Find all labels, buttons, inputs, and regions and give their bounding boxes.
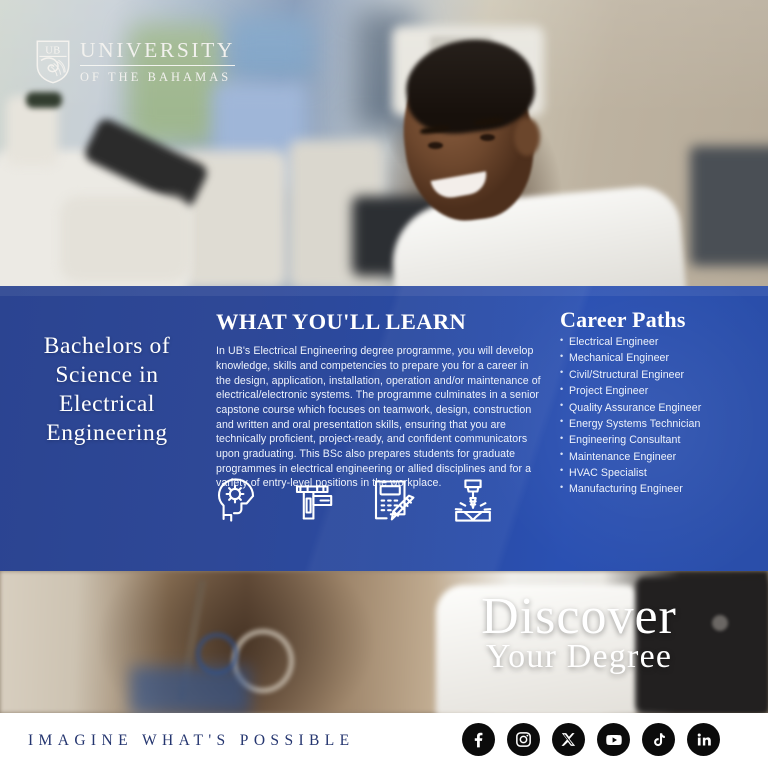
degree-title-line-2: Science in — [4, 361, 210, 390]
what-youll-learn-body: In UB's Electrical Engineering degree pr… — [216, 344, 546, 491]
caliper-icon — [290, 474, 344, 528]
ub-shield-icon: UB — [36, 40, 70, 84]
facebook-icon[interactable] — [462, 723, 495, 756]
list-item: Electrical Engineer — [560, 334, 760, 350]
degree-title-line-3: Electrical — [4, 390, 210, 419]
discover-your-degree-cta[interactable]: Discover Your Degree — [430, 592, 728, 675]
footer-tagline: IMAGINE WHAT'S POSSIBLE — [28, 732, 355, 750]
feature-icon-row — [212, 474, 500, 528]
degree-title-line-1: Bachelors of — [4, 332, 210, 361]
list-item: Maintenance Engineer — [560, 449, 760, 465]
list-item: Civil/Structural Engineer — [560, 367, 760, 383]
linkedin-icon[interactable] — [687, 723, 720, 756]
social-links — [462, 723, 720, 756]
ub-logo-wordmark: UNIVERSITY OF THE BAHAMAS — [80, 40, 235, 85]
x-twitter-icon[interactable] — [552, 723, 585, 756]
ub-logo[interactable]: UB UNIVERSITY OF THE BAHAMAS — [36, 40, 235, 85]
career-paths-section: Career Paths Electrical Engineer Mechani… — [560, 308, 760, 498]
list-item: Mechanical Engineer — [560, 350, 760, 366]
youtube-icon[interactable] — [597, 723, 630, 756]
list-item: Engineering Consultant — [560, 432, 760, 448]
list-item: Quality Assurance Engineer — [560, 400, 760, 416]
cta-line-2: Your Degree — [430, 640, 728, 675]
calculator-pencil-icon — [368, 474, 422, 528]
what-youll-learn-heading: WHAT YOU'LL LEARN — [216, 310, 546, 334]
cta-line-1: Discover — [430, 592, 728, 642]
career-paths-heading: Career Paths — [560, 308, 760, 331]
tiktok-icon[interactable] — [642, 723, 675, 756]
list-item: Manufacturing Engineer — [560, 481, 760, 497]
list-item: Energy Systems Technician — [560, 416, 760, 432]
drill-press-icon — [446, 474, 500, 528]
instagram-icon[interactable] — [507, 723, 540, 756]
what-youll-learn-section: WHAT YOU'LL LEARN In UB's Electrical Eng… — [216, 310, 546, 502]
list-item: Project Engineer — [560, 383, 760, 399]
program-poster: UB UNIVERSITY OF THE BAHAMAS Bachelors o… — [0, 0, 768, 768]
career-paths-list: Electrical Engineer Mechanical Engineer … — [560, 334, 760, 498]
svg-text:UB: UB — [45, 46, 60, 57]
head-with-gear-icon — [212, 474, 266, 528]
logo-bahamas-text: OF THE BAHAMAS — [80, 70, 235, 85]
degree-title-line-4: Engineering — [4, 419, 210, 448]
logo-university-text: UNIVERSITY — [80, 40, 235, 66]
degree-title: Bachelors of Science in Electrical Engin… — [4, 332, 210, 448]
list-item: HVAC Specialist — [560, 465, 760, 481]
hero-photo: UB UNIVERSITY OF THE BAHAMAS — [0, 0, 768, 288]
lab-blue-glow — [130, 667, 250, 713]
